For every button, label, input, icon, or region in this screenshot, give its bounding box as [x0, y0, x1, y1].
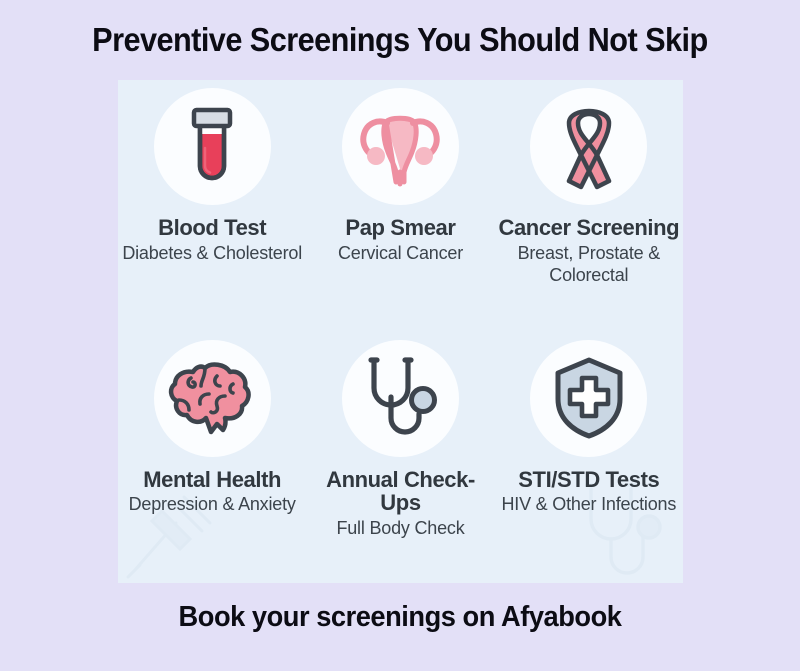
card-subtitle: HIV & Other Infections [501, 494, 676, 516]
card-title: STI/STD Tests [518, 468, 659, 492]
blood-test-tube-icon [174, 104, 250, 190]
infographic-poster: Preventive Screenings You Should Not Ski… [0, 0, 800, 671]
icon-circle [530, 88, 647, 205]
card-title: Blood Test [158, 216, 266, 240]
awareness-ribbon-icon [551, 103, 627, 191]
screening-card-blood-test[interactable]: Blood Test Diabetes & Cholesterol [118, 80, 306, 332]
card-title: Cancer Screening [498, 216, 679, 240]
card-subtitle: Depression & Anxiety [129, 494, 296, 516]
screening-card-grid: Blood Test Diabetes & Cholesterol Pap Sm… [118, 80, 683, 583]
stethoscope-chestpiece [412, 389, 435, 412]
content-panel: Blood Test Diabetes & Cholesterol Pap Sm… [118, 80, 683, 583]
card-title: Annual Check-Ups [306, 468, 494, 516]
stethoscope-icon [358, 352, 442, 444]
footer-cta: Book your screenings on Afyabook [24, 601, 776, 634]
icon-circle [154, 340, 271, 457]
screening-card-sti-std-tests[interactable]: STI/STD Tests HIV & Other Infections [495, 332, 683, 584]
screening-card-annual-checkups[interactable]: Annual Check-Ups Full Body Check [306, 332, 494, 584]
screening-card-mental-health[interactable]: Mental Health Depression & Anxiety [118, 332, 306, 584]
icon-circle [342, 88, 459, 205]
card-subtitle: Cervical Cancer [338, 243, 463, 265]
card-subtitle: Breast, Prostate & Colorectal [495, 243, 683, 287]
icon-circle [342, 340, 459, 457]
shield-cross-icon [549, 354, 629, 442]
icon-circle [530, 340, 647, 457]
card-subtitle: Full Body Check [336, 518, 464, 540]
card-subtitle: Diabetes & Cholesterol [122, 243, 302, 265]
brain-icon [167, 356, 257, 440]
uterus-icon [356, 106, 444, 188]
icon-circle [154, 88, 271, 205]
screening-card-pap-smear[interactable]: Pap Smear Cervical Cancer [306, 80, 494, 332]
card-title: Mental Health [143, 468, 281, 492]
screening-card-cancer-screening[interactable]: Cancer Screening Breast, Prostate & Colo… [495, 80, 683, 332]
page-title: Preventive Screenings You Should Not Ski… [92, 22, 708, 58]
card-title: Pap Smear [345, 216, 455, 240]
